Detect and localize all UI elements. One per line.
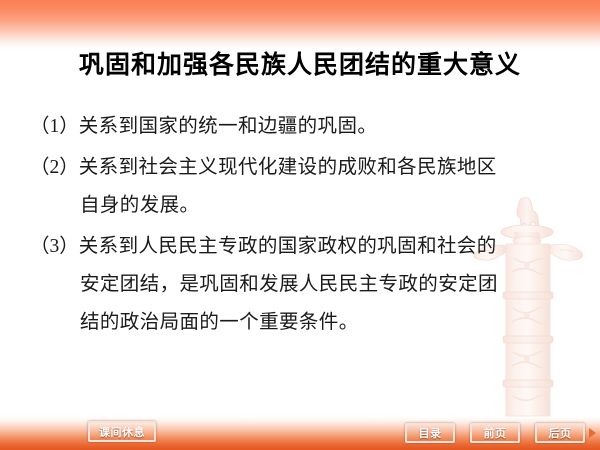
right-arrow-icon[interactable] — [589, 428, 596, 438]
break-time-button[interactable]: 课间休息 — [88, 421, 156, 442]
list-item-marker: （3） — [30, 236, 79, 257]
header-gradient-band — [0, 0, 600, 48]
list-item-text: 关系到社会主义现代化建设的成败和各民族地区自身的发展。 — [79, 157, 497, 216]
slide-canvas: 巩固和加强各民族人民团结的重大意义 （1）关系到国家的统一和边疆的巩固。 （2）… — [0, 0, 600, 450]
previous-page-button[interactable]: 前页 — [470, 423, 520, 443]
page-title: 巩固和加强各民族人民团结的重大意义 — [0, 48, 600, 82]
list-item-marker: （2） — [30, 157, 79, 178]
contents-button[interactable]: 目录 — [405, 423, 455, 443]
next-page-button[interactable]: 后页 — [535, 423, 585, 443]
list-item-text: 关系到人民民主专政的国家政权的巩固和社会的安定团结，是巩固和发展人民民主专政的安… — [79, 236, 498, 333]
content-list: （1）关系到国家的统一和边疆的巩固。 （2）关系到社会主义现代化建设的成败和各民… — [30, 108, 500, 345]
list-item: （3）关系到人民民主专政的国家政权的巩固和社会的安定团结，是巩固和发展人民民主专… — [30, 228, 500, 342]
list-item: （2）关系到社会主义现代化建设的成败和各民族地区自身的发展。 — [30, 149, 500, 225]
list-item-text: 关系到国家的统一和边疆的巩固。 — [79, 116, 378, 137]
list-item-marker: （1） — [30, 116, 79, 137]
list-item: （1）关系到国家的统一和边疆的巩固。 — [30, 108, 500, 146]
